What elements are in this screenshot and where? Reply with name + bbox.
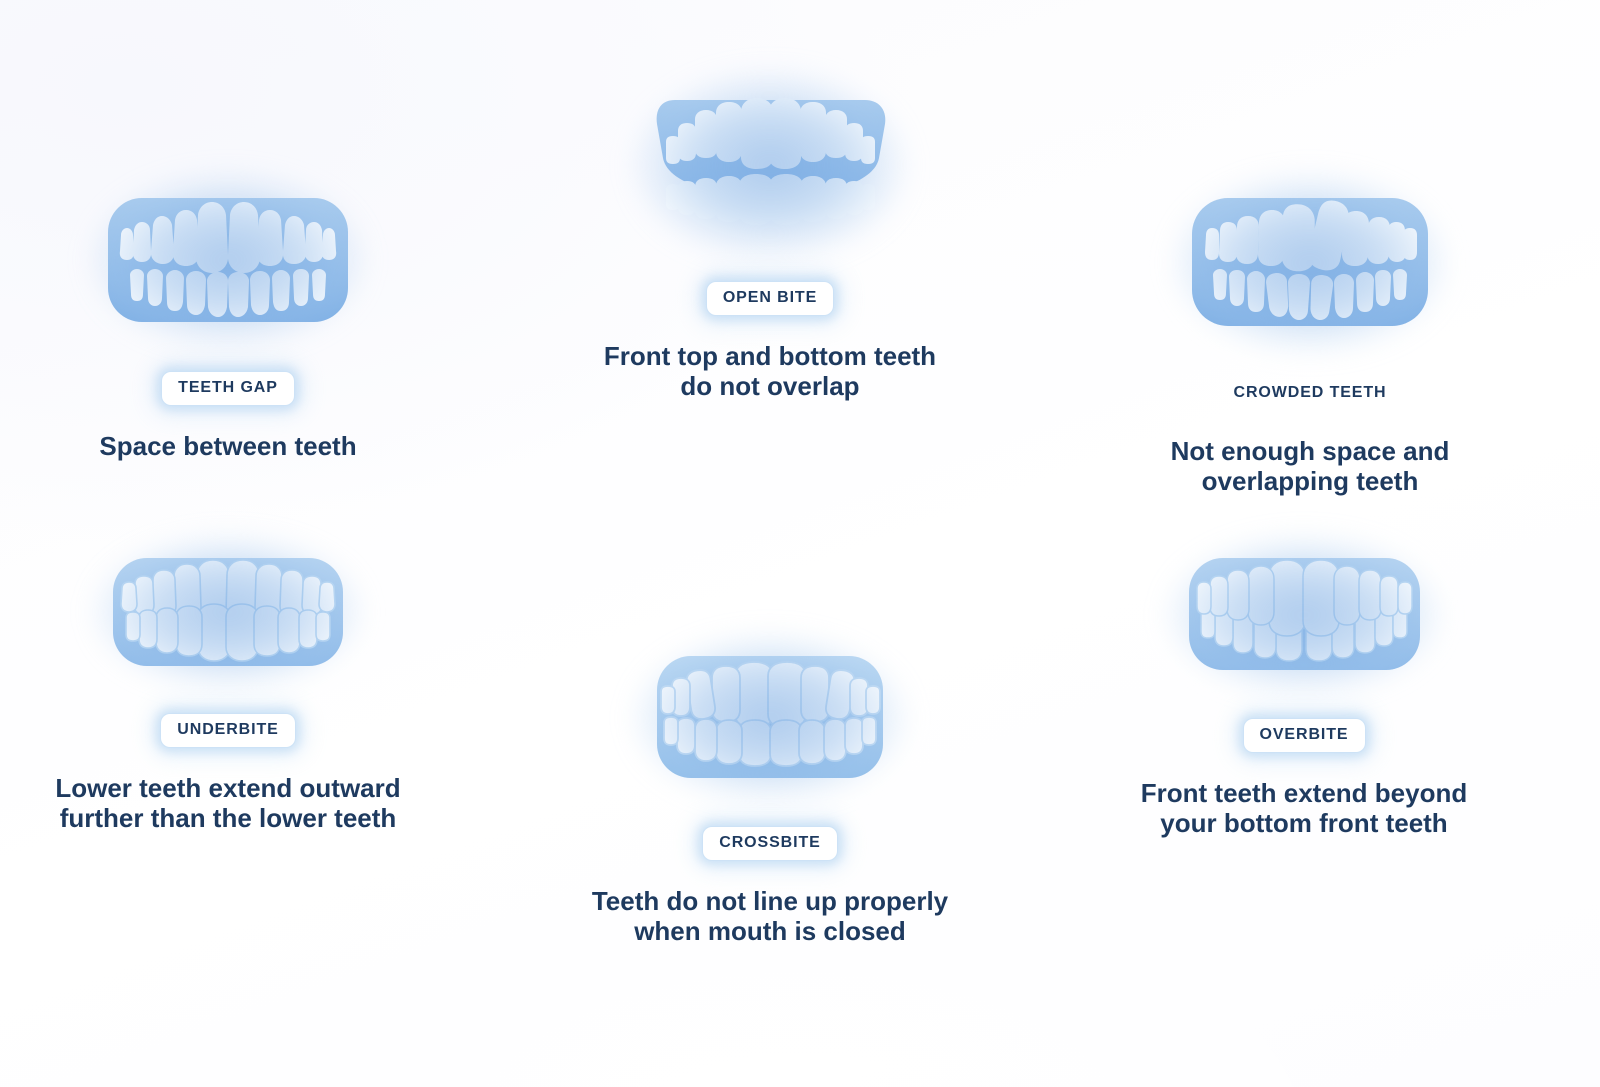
crowded-teeth-icon	[1180, 190, 1440, 335]
overbite-icon	[1177, 552, 1432, 677]
description-open-bite: Front top and bottom teeth do not overla…	[604, 341, 936, 402]
badge-crowded-teeth[interactable]: CROWDED TEETH	[1229, 377, 1390, 410]
badge-underbite[interactable]: UNDERBITE	[161, 714, 294, 747]
badge-teeth-gap[interactable]: TEETH GAP	[162, 372, 294, 405]
teeth-gap-illustration	[98, 190, 358, 330]
condition-card-crossbite[interactable]: CROSSBITE Teeth do not line up properly …	[570, 650, 970, 947]
underbite-illustration	[103, 552, 353, 672]
description-overbite: Front teeth extend beyond your bottom fr…	[1141, 778, 1467, 839]
condition-card-crowded-teeth[interactable]: CROWDED TEETH Not enough space and overl…	[1110, 190, 1510, 497]
condition-card-open-bite[interactable]: OPEN BITE Front top and bottom teeth do …	[570, 90, 970, 402]
crossbite-illustration	[645, 650, 895, 785]
condition-card-overbite[interactable]: OVERBITE Front teeth extend beyond your …	[1104, 552, 1504, 839]
crossbite-icon	[645, 650, 895, 785]
description-teeth-gap: Space between teeth	[99, 431, 356, 461]
badge-crossbite[interactable]: CROSSBITE	[703, 827, 836, 860]
condition-card-underbite[interactable]: UNDERBITE Lower teeth extend outward fur…	[28, 552, 428, 834]
open-bite-icon	[645, 90, 895, 240]
teeth-conditions-board: TEETH GAP Space between teeth	[0, 0, 1600, 1087]
description-underbite: Lower teeth extend outward further than …	[55, 773, 400, 834]
badge-overbite[interactable]: OVERBITE	[1244, 719, 1365, 752]
badge-open-bite[interactable]: OPEN BITE	[707, 282, 833, 315]
description-crossbite: Teeth do not line up properly when mouth…	[592, 886, 948, 947]
crowded-teeth-illustration	[1180, 190, 1440, 335]
overbite-illustration	[1177, 552, 1432, 677]
condition-card-teeth-gap[interactable]: TEETH GAP Space between teeth	[28, 190, 428, 461]
open-bite-illustration	[645, 90, 895, 240]
description-crowded-teeth: Not enough space and overlapping teeth	[1171, 436, 1450, 497]
underbite-icon	[103, 552, 353, 672]
teeth-gap-icon	[98, 190, 358, 330]
